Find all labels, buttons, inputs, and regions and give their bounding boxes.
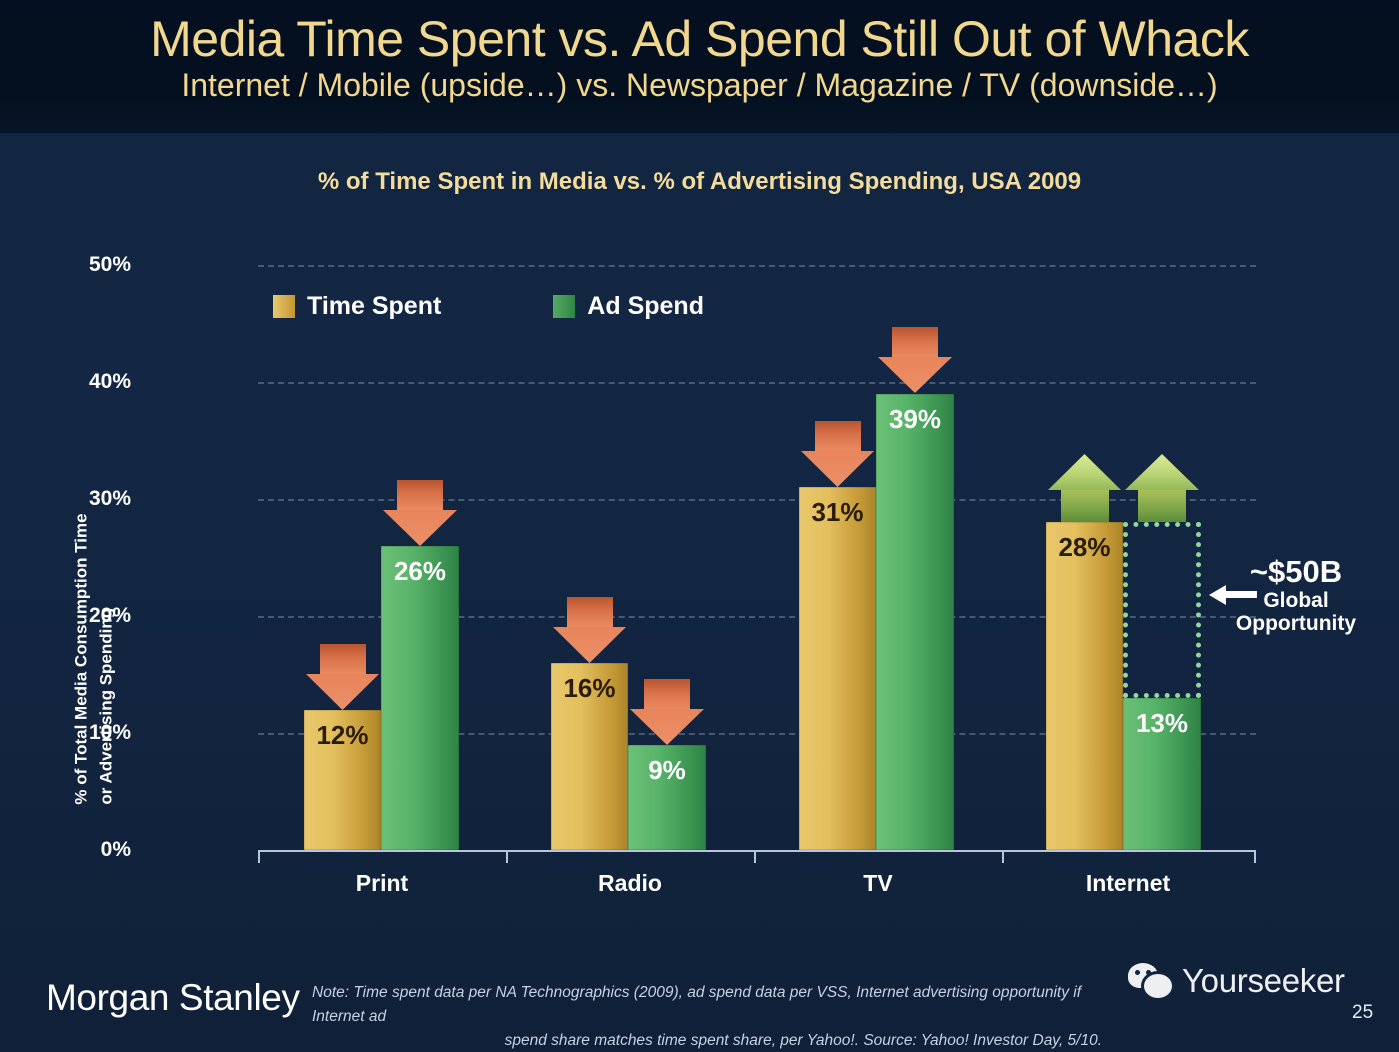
- x-tick-start: [258, 850, 260, 863]
- down-arrow-print-ad-spend: [383, 480, 457, 546]
- legend-item-time-spent[interactable]: Time Spent: [273, 292, 441, 321]
- y-tick-label-20: 20%: [11, 604, 131, 628]
- bar-label-tv-time-spent: 31%: [799, 497, 876, 528]
- x-tick-3: [1002, 850, 1004, 863]
- bar-label-internet-time-spent: 28%: [1046, 532, 1123, 563]
- opportunity-callout: ~$50B Global Opportunity: [1201, 556, 1391, 636]
- bar-internet-time-spent[interactable]: 28%: [1046, 522, 1123, 850]
- opportunity-line-2: Global: [1201, 589, 1391, 613]
- page-title: Media Time Spent vs. Ad Spend Still Out …: [0, 12, 1399, 66]
- down-arrow-tv-time-spent: [801, 421, 874, 487]
- plot-area: 12% 26% 16% 9% 31% 3: [258, 265, 1256, 850]
- opportunity-amount: ~$50B: [1201, 556, 1391, 589]
- legend-item-ad-spend[interactable]: Ad Spend: [553, 292, 704, 321]
- footnote-line-2: spend share matches time spent share, pe…: [312, 1029, 1102, 1052]
- bar-label-radio-time-spent: 16%: [551, 673, 628, 704]
- x-axis-label-tv: TV: [754, 870, 1002, 897]
- y-axis-title-line-1: % of Total Media Consumption Time: [69, 514, 94, 805]
- x-tick-2: [754, 850, 756, 863]
- y-tick-label-40: 40%: [11, 370, 131, 394]
- down-arrow-tv-ad-spend: [878, 327, 952, 393]
- bar-tv-ad-spend[interactable]: 39%: [876, 394, 954, 850]
- gridline-50: [258, 265, 1256, 267]
- y-axis-title-line-2: or Advertising Spending: [94, 608, 119, 805]
- bar-radio-ad-spend[interactable]: 9%: [628, 745, 706, 850]
- chart-legend: Time Spent Ad Spend: [273, 292, 704, 321]
- gridline-40: [258, 382, 1256, 384]
- x-axis-label-internet: Internet: [1002, 870, 1254, 897]
- page-subtitle: Internet / Mobile (upside…) vs. Newspape…: [0, 68, 1399, 104]
- x-axis-label-radio: Radio: [506, 870, 754, 897]
- page-number: 25: [1352, 1002, 1373, 1024]
- x-axis-line: [258, 850, 1256, 852]
- up-arrow-internet-ad-spend: [1125, 456, 1199, 522]
- bar-print-time-spent[interactable]: 12%: [304, 710, 381, 850]
- bar-label-radio-ad-spend: 9%: [628, 755, 706, 786]
- down-arrow-radio-time-spent: [553, 597, 626, 663]
- bar-print-ad-spend[interactable]: 26%: [381, 546, 459, 850]
- x-tick-end: [1254, 850, 1256, 863]
- watermark-text: Yourseeker: [1182, 962, 1345, 1000]
- y-tick-label-50: 50%: [11, 253, 131, 277]
- down-arrow-print-time-spent: [306, 644, 379, 710]
- wechat-icon: [1128, 963, 1174, 999]
- watermark: Yourseeker: [1128, 962, 1345, 1000]
- y-tick-label-30: 30%: [11, 487, 131, 511]
- bar-tv-time-spent[interactable]: 31%: [799, 487, 876, 850]
- y-tick-label-10: 10%: [11, 721, 131, 745]
- bar-internet-ad-spend[interactable]: 13%: [1123, 698, 1201, 850]
- opportunity-line-3: Opportunity: [1201, 612, 1391, 636]
- up-arrow-internet-time-spent: [1048, 456, 1121, 522]
- legend-label-ad-spend: Ad Spend: [587, 292, 704, 321]
- y-tick-label-0: 0%: [11, 838, 131, 862]
- x-tick-1: [506, 850, 508, 863]
- chart-title: % of Time Spent in Media vs. % of Advert…: [0, 168, 1399, 196]
- slide: Media Time Spent vs. Ad Spend Still Out …: [0, 0, 1399, 1052]
- legend-label-time-spent: Time Spent: [307, 292, 441, 321]
- legend-swatch-icon-time-spent: [273, 295, 295, 318]
- bar-label-internet-ad-spend: 13%: [1123, 708, 1201, 739]
- legend-swatch-icon-ad-spend: [553, 295, 575, 318]
- slide-header: Media Time Spent vs. Ad Spend Still Out …: [0, 0, 1399, 133]
- bar-radio-time-spent[interactable]: 16%: [551, 663, 628, 850]
- x-axis-label-print: Print: [258, 870, 506, 897]
- footnote-line-1: Note: Time spent data per NA Technograph…: [312, 981, 1102, 1029]
- bar-label-print-time-spent: 12%: [304, 720, 381, 751]
- opportunity-gap-box: [1123, 522, 1201, 698]
- footnote: Note: Time spent data per NA Technograph…: [312, 981, 1102, 1052]
- down-arrow-radio-ad-spend: [630, 679, 704, 745]
- bar-label-print-ad-spend: 26%: [381, 556, 459, 587]
- bar-label-tv-ad-spend: 39%: [876, 404, 954, 435]
- morgan-stanley-logo: Morgan Stanley: [46, 977, 300, 1019]
